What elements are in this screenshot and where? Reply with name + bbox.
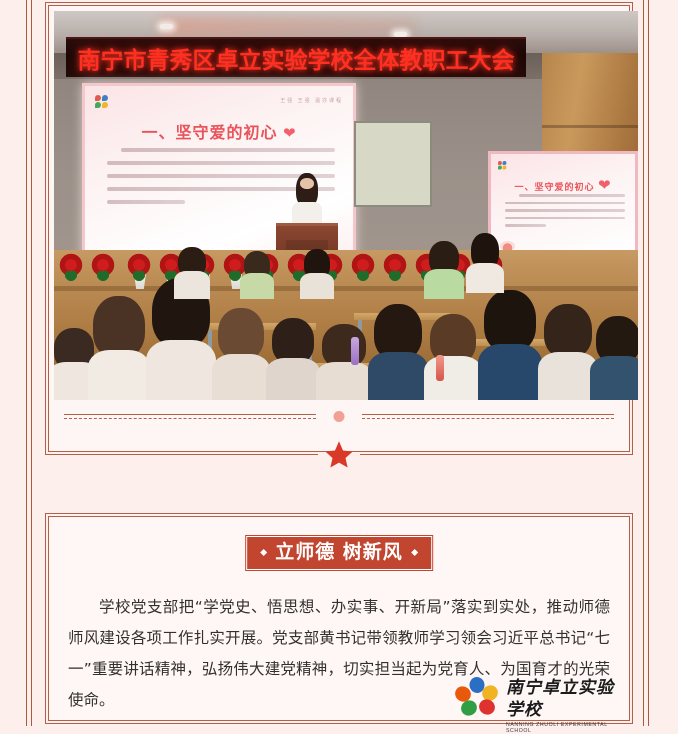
page-content: 南宁市青秀区卓立实验学校全体教职工大会 王强 王强 温亦课程 一、坚守爱的初心 … (36, 0, 642, 726)
audience-person (316, 324, 372, 400)
side-slide-title: 一、坚守爱的初心 ❤ (491, 176, 635, 194)
dashed-divider (64, 411, 614, 423)
audience-person (478, 290, 542, 400)
audience-person (538, 304, 598, 400)
diamond-right-icon (411, 549, 418, 556)
petal-flower-icon (454, 677, 500, 717)
section-headline: 立师德 树新风 (246, 536, 432, 570)
school-logo-text: 南宁卓立实验学校 NANNING ZHUOLI EXPERIMENTAL SCH… (506, 677, 618, 734)
audience-person (88, 296, 150, 400)
audience-person (240, 251, 274, 299)
slide-title: 一、坚守爱的初心 ❤ (85, 119, 353, 143)
led-banner-text: 南宁市青秀区卓立实验学校全体教职工大会 (78, 41, 515, 75)
speaker-person (290, 176, 324, 228)
diamond-left-icon (260, 549, 267, 556)
slide-logo-icon (95, 95, 111, 109)
heart-icon: ❤ (283, 125, 297, 142)
right-border-rules (643, 0, 652, 726)
audience-person (368, 304, 428, 400)
photo-frame: 南宁市青秀区卓立实验学校全体教职工大会 王强 王强 温亦课程 一、坚守爱的初心 … (45, 2, 633, 455)
whiteboard (354, 121, 432, 207)
audience-person (212, 308, 270, 400)
divider-dot-icon (334, 411, 345, 422)
projection-screen-side: 一、坚守爱的初心 ❤ (488, 151, 638, 261)
slide-logo-icon (498, 161, 508, 170)
school-name-cn: 南宁卓立实验学校 (506, 677, 618, 721)
school-name-en: NANNING ZHUOLI EXPERIMENTAL SCHOOL (506, 722, 618, 734)
audience-person (174, 247, 210, 299)
led-banner: 南宁市青秀区卓立实验学校全体教职工大会 (66, 37, 526, 77)
audience-person (266, 318, 320, 400)
slide-header-right: 王强 王强 温亦课程 (280, 97, 343, 104)
water-bottle-icon (351, 337, 359, 365)
section-headline-text: 立师德 树新风 (275, 543, 403, 562)
slide-title-text: 一、坚守爱的初心 (141, 125, 277, 142)
audience-person (424, 241, 464, 299)
audience-person (300, 249, 334, 299)
ceiling-light-icon (160, 24, 173, 29)
assembly-photo: 南宁市青秀区卓立实验学校全体教职工大会 王强 王强 温亦课程 一、坚守爱的初心 … (54, 11, 638, 400)
side-slide-title-text: 一、坚守爱的初心 (514, 182, 594, 192)
side-slide-body-lines (505, 194, 625, 232)
heart-icon: ❤ (598, 177, 612, 194)
content-box: 立师德 树新风 学校党支部把“学党史、悟思想、办实事、开新局”落实到实处，推动师… (45, 513, 633, 724)
left-border-rules (26, 0, 35, 726)
audience-person (424, 314, 482, 400)
audience-person (466, 233, 504, 293)
audience-person (590, 316, 638, 400)
flower-row (54, 251, 638, 285)
water-bottle-icon (436, 355, 444, 381)
school-logo: 南宁卓立实验学校 NANNING ZHUOLI EXPERIMENTAL SCH… (454, 675, 618, 719)
red-star-divider (324, 440, 354, 470)
